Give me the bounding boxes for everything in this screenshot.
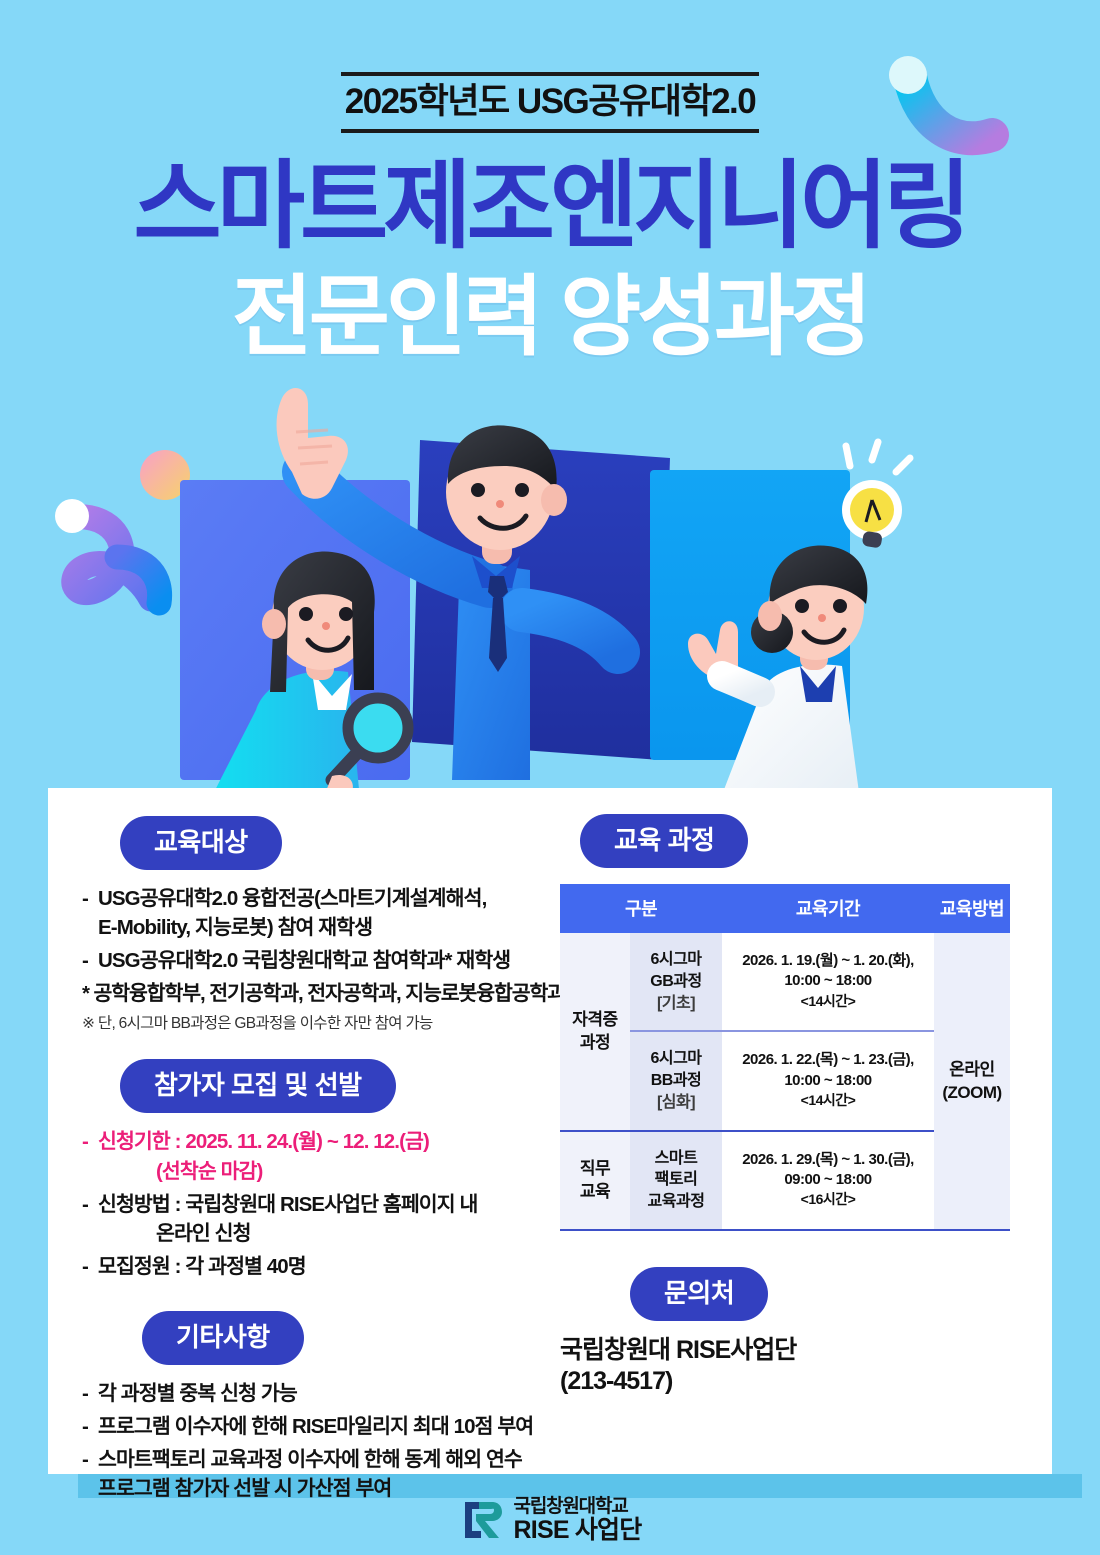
table-header-category: 구분 bbox=[560, 884, 722, 933]
recruit-item-1-indent: 온라인 신청 bbox=[98, 1219, 582, 1248]
list-item: - 모집정원 : 각 과정별 40명 bbox=[82, 1252, 582, 1281]
table-header-mode: 교육방법 bbox=[934, 884, 1010, 933]
section-title-contact: 문의처 bbox=[630, 1267, 768, 1321]
bullet-dash: - bbox=[82, 1127, 98, 1185]
bullet-dash: - bbox=[82, 1412, 98, 1441]
footer-org: RISE 사업단 bbox=[514, 1517, 642, 1543]
eyebrow-heading: 2025학년도 USG공유대학2.0 bbox=[0, 72, 1100, 133]
list-item: - USG공유대학2.0 융합전공(스마트기계설계해석, E-Mobility,… bbox=[82, 884, 582, 942]
bullet-dash: - bbox=[82, 1445, 98, 1503]
contact-details: 국립창원대 RISE사업단 (213-4517) bbox=[560, 1335, 1030, 1398]
cell-period-1: 2026. 1. 22.(목) ~ 1. 23.(금), 10:00 ~ 18:… bbox=[722, 1031, 934, 1130]
section-title-etc: 기타사항 bbox=[142, 1311, 304, 1365]
recruit-item-2-main: 모집정원 : 각 과정별 40명 bbox=[98, 1252, 582, 1281]
list-item: - 신청방법 : 국립창원대 RISE사업단 홈페이지 내 온라인 신청 bbox=[82, 1190, 582, 1248]
cell-name-2: 스마트 팩토리 교육과정 bbox=[630, 1131, 722, 1230]
lightbulb-icon bbox=[842, 442, 910, 549]
list-item: - USG공유대학2.0 국립창원대학교 참여학과* 재학생 bbox=[82, 946, 582, 975]
list-item: - 각 과정별 중복 신청 가능 bbox=[82, 1379, 582, 1408]
cell-period-0: 2026. 1. 19.(월) ~ 1. 20.(화), 10:00 ~ 18:… bbox=[722, 933, 934, 1031]
etc-item-0: 각 과정별 중복 신청 가능 bbox=[98, 1379, 582, 1408]
etc-item-2-main: 스마트팩토리 교육과정 이수자에 한해 동계 해외 연수 bbox=[98, 1448, 522, 1471]
content-panel: 교육대상 - USG공유대학2.0 융합전공(스마트기계설계해석, E-Mobi… bbox=[48, 788, 1052, 1474]
eyebrow-text: 2025학년도 USG공유대학2.0 bbox=[345, 84, 756, 119]
poster-root: 2025학년도 USG공유대학2.0 스마트제조엔지니어링 전문인력 양성과정 bbox=[0, 0, 1100, 1555]
section-title-target: 교육대상 bbox=[120, 816, 282, 870]
target-small-note: ※ 단, 6시그마 BB과정은 GB과정을 이수한 자만 참여 가능 bbox=[82, 1013, 582, 1035]
contact-org: 국립창원대 RISE사업단 bbox=[560, 1335, 1030, 1366]
target-star-note: * 공학융합학부, 전기공학과, 전자공학과, 지능로봇융합공학과 bbox=[82, 979, 582, 1008]
bullet-dash: - bbox=[82, 1379, 98, 1408]
page-title-line2: 전문인력 양성과정 bbox=[0, 272, 1100, 362]
page-title-line1: 스마트제조엔지니어링 bbox=[0, 158, 1100, 256]
bullet-dash: - bbox=[82, 884, 98, 942]
bullet-dash: - bbox=[82, 946, 98, 975]
course-table: 구분 교육기간 교육방법 자격증 과정 6시그마 GB과정 [ bbox=[560, 884, 1010, 1231]
rise-r-logo-icon bbox=[459, 1499, 503, 1541]
footer-logo: 국립창원대학교 RISE 사업단 bbox=[0, 1497, 1100, 1543]
section-target: 교육대상 - USG공유대학2.0 융합전공(스마트기계설계해석, E-Mobi… bbox=[82, 788, 582, 1035]
table-header-period: 교육기간 bbox=[722, 884, 934, 933]
section-etc: 기타사항 - 각 과정별 중복 신청 가능 - 프로그램 이수자에 한해 RIS… bbox=[82, 1311, 582, 1503]
people-illustration bbox=[60, 380, 1040, 800]
contact-phone: (213-4517) bbox=[560, 1366, 1030, 1397]
list-item: - 신청기한 : 2025. 11. 24.(월) ~ 12. 12.(금) (… bbox=[82, 1127, 582, 1185]
table-header-row: 구분 교육기간 교육방법 bbox=[560, 884, 1010, 933]
cell-name-1: 6시그마 BB과정 [심화] bbox=[630, 1031, 722, 1130]
cell-name-0: 6시그마 GB과정 [기초] bbox=[630, 933, 722, 1031]
bullet-dash: - bbox=[82, 1252, 98, 1281]
cell-category-2: 직무 교육 bbox=[560, 1131, 630, 1230]
target-item-0-indent: E-Mobility, 지능로봇) 참여 재학생 bbox=[98, 913, 582, 942]
recruit-item-0-main: 신청기한 : 2025. 11. 24.(월) ~ 12. 12.(금) bbox=[98, 1130, 429, 1153]
recruit-item-0-indent: (선착순 마감) bbox=[98, 1157, 582, 1186]
list-item: - 프로그램 이수자에 한해 RISE마일리지 최대 10점 부여 bbox=[82, 1412, 582, 1441]
list-item: - 스마트팩토리 교육과정 이수자에 한해 동계 해외 연수 프로그램 참가자 … bbox=[82, 1445, 582, 1503]
section-course: 교육 과정 구분 교육기간 교육방법 자격증 과정 bbox=[560, 788, 1030, 1231]
right-column: 교육 과정 구분 교육기간 교육방법 자격증 과정 bbox=[560, 788, 1030, 1397]
footer-univ: 국립창원대학교 bbox=[514, 1497, 642, 1517]
cell-period-2: 2026. 1. 29.(목) ~ 1. 30.(금), 09:00 ~ 18:… bbox=[722, 1131, 934, 1230]
section-title-recruit: 참가자 모집 및 선발 bbox=[120, 1059, 396, 1113]
target-item-1-main: USG공유대학2.0 국립창원대학교 참여학과* 재학생 bbox=[98, 946, 582, 975]
bullet-dash: - bbox=[82, 1190, 98, 1248]
cell-category-0: 자격증 과정 bbox=[560, 933, 630, 1131]
target-item-0-main: USG공유대학2.0 융합전공(스마트기계설계해석, bbox=[98, 887, 486, 910]
cell-mode: 온라인 (ZOOM) bbox=[934, 933, 1010, 1230]
recruit-item-1-main: 신청방법 : 국립창원대 RISE사업단 홈페이지 내 bbox=[98, 1193, 477, 1216]
etc-item-1: 프로그램 이수자에 한해 RISE마일리지 최대 10점 부여 bbox=[98, 1412, 582, 1441]
section-contact: 문의처 국립창원대 RISE사업단 (213-4517) bbox=[560, 1267, 1030, 1398]
left-column: 교육대상 - USG공유대학2.0 융합전공(스마트기계설계해석, E-Mobi… bbox=[82, 788, 582, 1507]
section-title-course: 교육 과정 bbox=[580, 814, 748, 868]
section-recruit: 참가자 모집 및 선발 - 신청기한 : 2025. 11. 24.(월) ~ … bbox=[82, 1059, 582, 1281]
table-row: 자격증 과정 6시그마 GB과정 [기초] 2026. 1. 19.(월) ~ … bbox=[560, 933, 1010, 1031]
